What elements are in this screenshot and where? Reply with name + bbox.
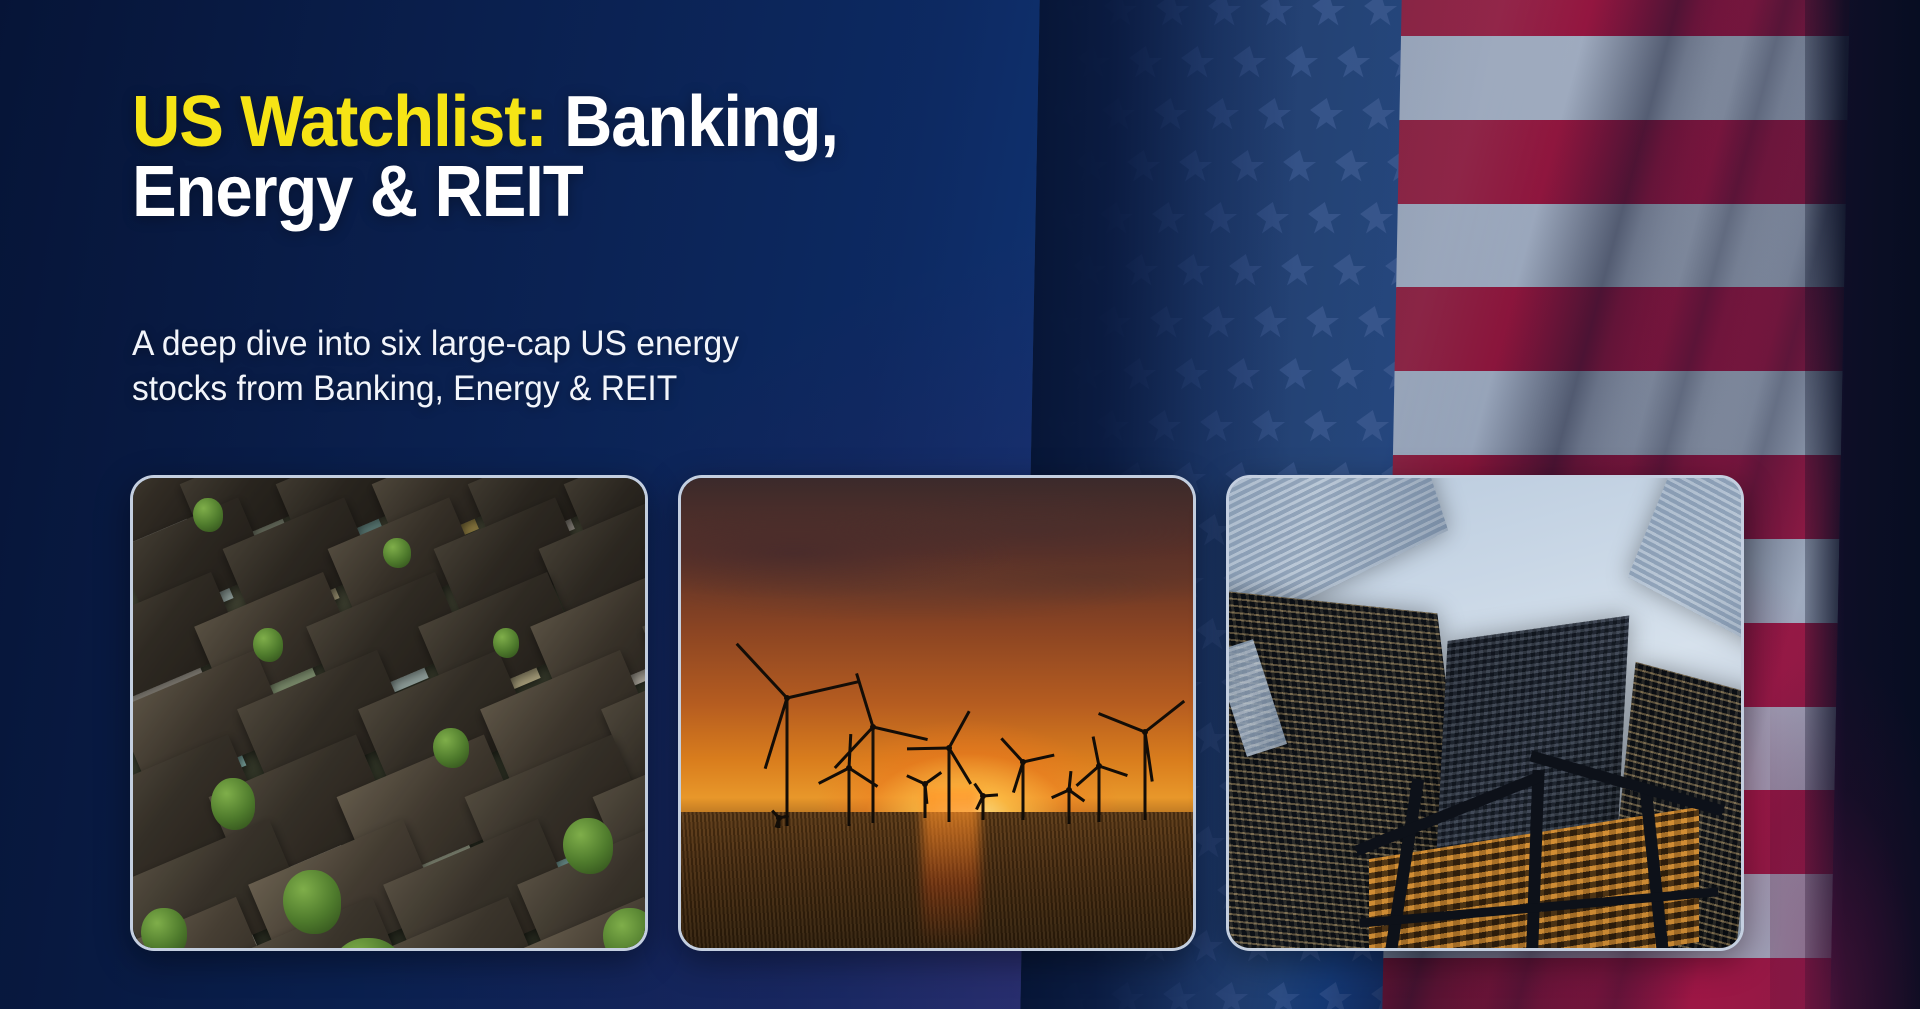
photo-residential-housing bbox=[133, 478, 645, 948]
wind-turbine bbox=[785, 698, 789, 826]
wind-turbine bbox=[981, 796, 985, 820]
turbine-mast bbox=[1068, 790, 1071, 824]
wind-turbine bbox=[1143, 732, 1147, 820]
wind-turbine bbox=[947, 748, 951, 822]
wind-turbine bbox=[1067, 790, 1071, 824]
wind-turbine bbox=[847, 768, 851, 826]
wind-turbine bbox=[871, 727, 875, 823]
page-title: US Watchlist: Banking, Energy & REIT bbox=[132, 88, 1043, 228]
turbine-mast bbox=[1098, 766, 1101, 822]
foliage bbox=[283, 870, 341, 934]
sunset-clouds bbox=[681, 478, 1193, 769]
turbine-mast bbox=[948, 748, 951, 822]
turbine-mast bbox=[1022, 762, 1025, 820]
foliage bbox=[433, 728, 469, 768]
poster-canvas: US Watchlist: Banking, Energy & REIT A d… bbox=[0, 0, 1920, 1009]
foliage bbox=[383, 538, 411, 568]
turbine-mast bbox=[872, 727, 875, 823]
page-subtitle: A deep dive into six large-cap US energy… bbox=[132, 322, 996, 412]
turbine-mast bbox=[848, 768, 851, 826]
photo-wind-energy bbox=[681, 478, 1193, 948]
page-subtitle-line-1: A deep dive into six large-cap US energy bbox=[132, 324, 739, 363]
wind-turbine bbox=[923, 784, 927, 818]
card-residential-housing[interactable] bbox=[130, 475, 648, 951]
foliage bbox=[253, 628, 283, 662]
foliage bbox=[493, 628, 519, 658]
wind-turbine bbox=[1021, 762, 1025, 820]
right-edge-plum-glow bbox=[1770, 449, 1920, 1009]
wind-turbine bbox=[1097, 766, 1101, 822]
page-title-highlight: US Watchlist: bbox=[132, 82, 547, 162]
foliage bbox=[193, 498, 223, 532]
suburb-scene bbox=[133, 478, 645, 948]
image-card-row bbox=[130, 475, 1790, 951]
card-wind-energy[interactable] bbox=[678, 475, 1196, 951]
photo-office-towers bbox=[1229, 478, 1741, 948]
wind-turbine bbox=[777, 818, 781, 828]
foliage bbox=[211, 778, 255, 830]
page-subtitle-line-2: stocks from Banking, Energy & REIT bbox=[132, 369, 677, 408]
card-office-towers[interactable] bbox=[1226, 475, 1744, 951]
foliage bbox=[563, 818, 613, 874]
turbine-mast bbox=[786, 698, 789, 826]
foliage bbox=[141, 908, 187, 948]
